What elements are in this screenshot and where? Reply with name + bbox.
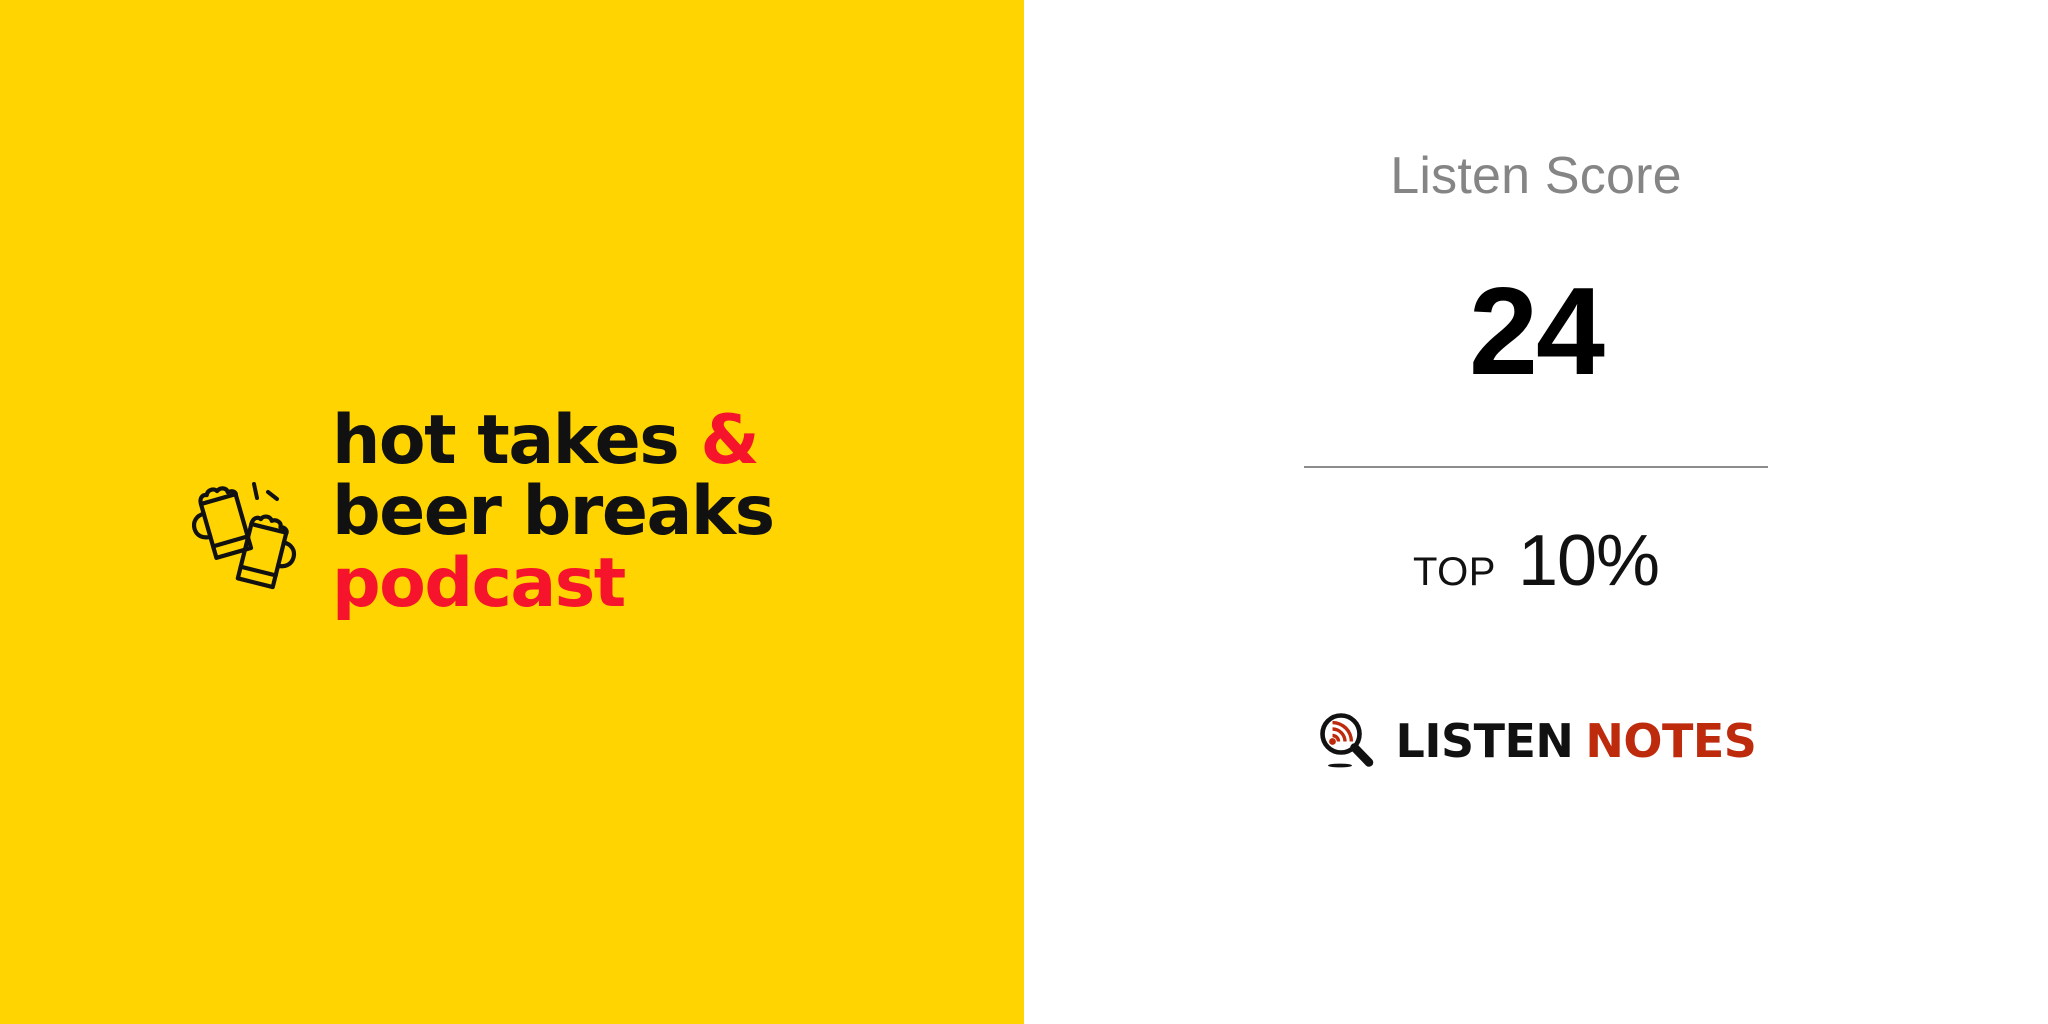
listen-score-panel: Listen Score 24 TOP 10%: [1024, 0, 2048, 1024]
rank-label: TOP: [1413, 550, 1496, 595]
listen-score-column: Listen Score 24 TOP 10%: [1024, 0, 2048, 1024]
podcast-title-line-1: hot takes &: [332, 408, 774, 473]
score-divider: [1304, 466, 1768, 468]
listen-notes-magnifier-icon: [1316, 710, 1378, 772]
listen-notes-word-listen: LISTEN: [1396, 714, 1574, 768]
ampersand-glyph: &: [700, 401, 758, 480]
listen-notes-word-notes: NOTES: [1585, 714, 1756, 768]
podcast-title-line-3: podcast: [332, 551, 774, 616]
rank-percentile-value: 10%: [1518, 520, 1659, 602]
listen-score-banner: hot takes & beer breaks podcast Listen S…: [0, 0, 2048, 1024]
listen-score-value: 24: [1469, 270, 1603, 394]
podcast-cover-art[interactable]: hot takes & beer breaks podcast: [0, 0, 1024, 1024]
listen-score-title: Listen Score: [1390, 150, 1681, 202]
podcast-title-line-1-text: hot takes: [332, 401, 678, 480]
global-rank-row: TOP 10%: [1413, 520, 1659, 602]
listen-notes-wordmark: LISTENNOTES: [1396, 718, 1757, 764]
podcast-title: hot takes & beer breaks podcast: [332, 408, 774, 616]
listen-notes-logo[interactable]: LISTENNOTES: [1316, 710, 1757, 772]
podcast-title-line-2: beer breaks: [332, 479, 774, 544]
cover-art-content: hot takes & beer breaks podcast: [0, 0, 1024, 1024]
clinking-beer-mugs-icon: [178, 468, 308, 598]
